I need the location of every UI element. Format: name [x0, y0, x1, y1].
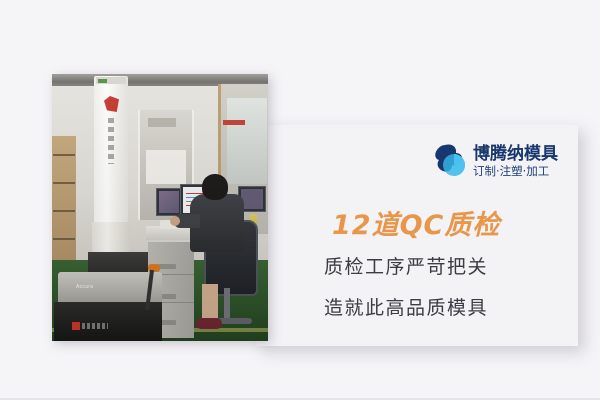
photo-cmm-indicator — [98, 79, 107, 83]
body-line: 造就此高品质模具 — [324, 299, 554, 318]
brand-tagline: 订制·注塑·加工 — [473, 166, 558, 178]
photo-operator-shoe — [196, 318, 222, 329]
brand-logo: 博腾纳模具 订制·注塑·加工 — [432, 138, 572, 186]
photo-operator-hand — [170, 216, 180, 226]
qc-inspection-photo: Accura — [52, 74, 268, 341]
photo-operator-leg — [202, 284, 218, 320]
slide-canvas: Accura 博腾纳模具 — [0, 0, 600, 400]
photo-operator-head — [202, 174, 228, 200]
photo-machine-cabinet-mark — [72, 322, 80, 330]
photo-machine-cabinet-text — [82, 323, 108, 329]
photo-door-light — [146, 150, 186, 184]
photo-right-red-stripe — [223, 120, 245, 125]
body-text: 质检工序严苛把关 造就此高品质模具 — [324, 258, 554, 318]
photo-left-shelf — [52, 136, 76, 264]
photo-right-glass — [227, 98, 267, 184]
brand-logo-text: 博腾纳模具 订制·注塑·加工 — [473, 146, 558, 178]
photo-machine-label: Accura — [76, 284, 93, 290]
photo-content: Accura — [52, 74, 268, 341]
brand-name: 博腾纳模具 — [473, 146, 558, 163]
botengna-logo-mark-icon — [432, 141, 468, 183]
photo-door-sign — [148, 118, 176, 127]
photo-cmm-brand-text — [108, 118, 114, 164]
headline: 12道QC质检 — [332, 203, 500, 242]
photo-chair-post — [224, 288, 230, 322]
photo-monitor-left — [156, 188, 182, 216]
body-line: 质检工序严苛把关 — [324, 258, 554, 277]
